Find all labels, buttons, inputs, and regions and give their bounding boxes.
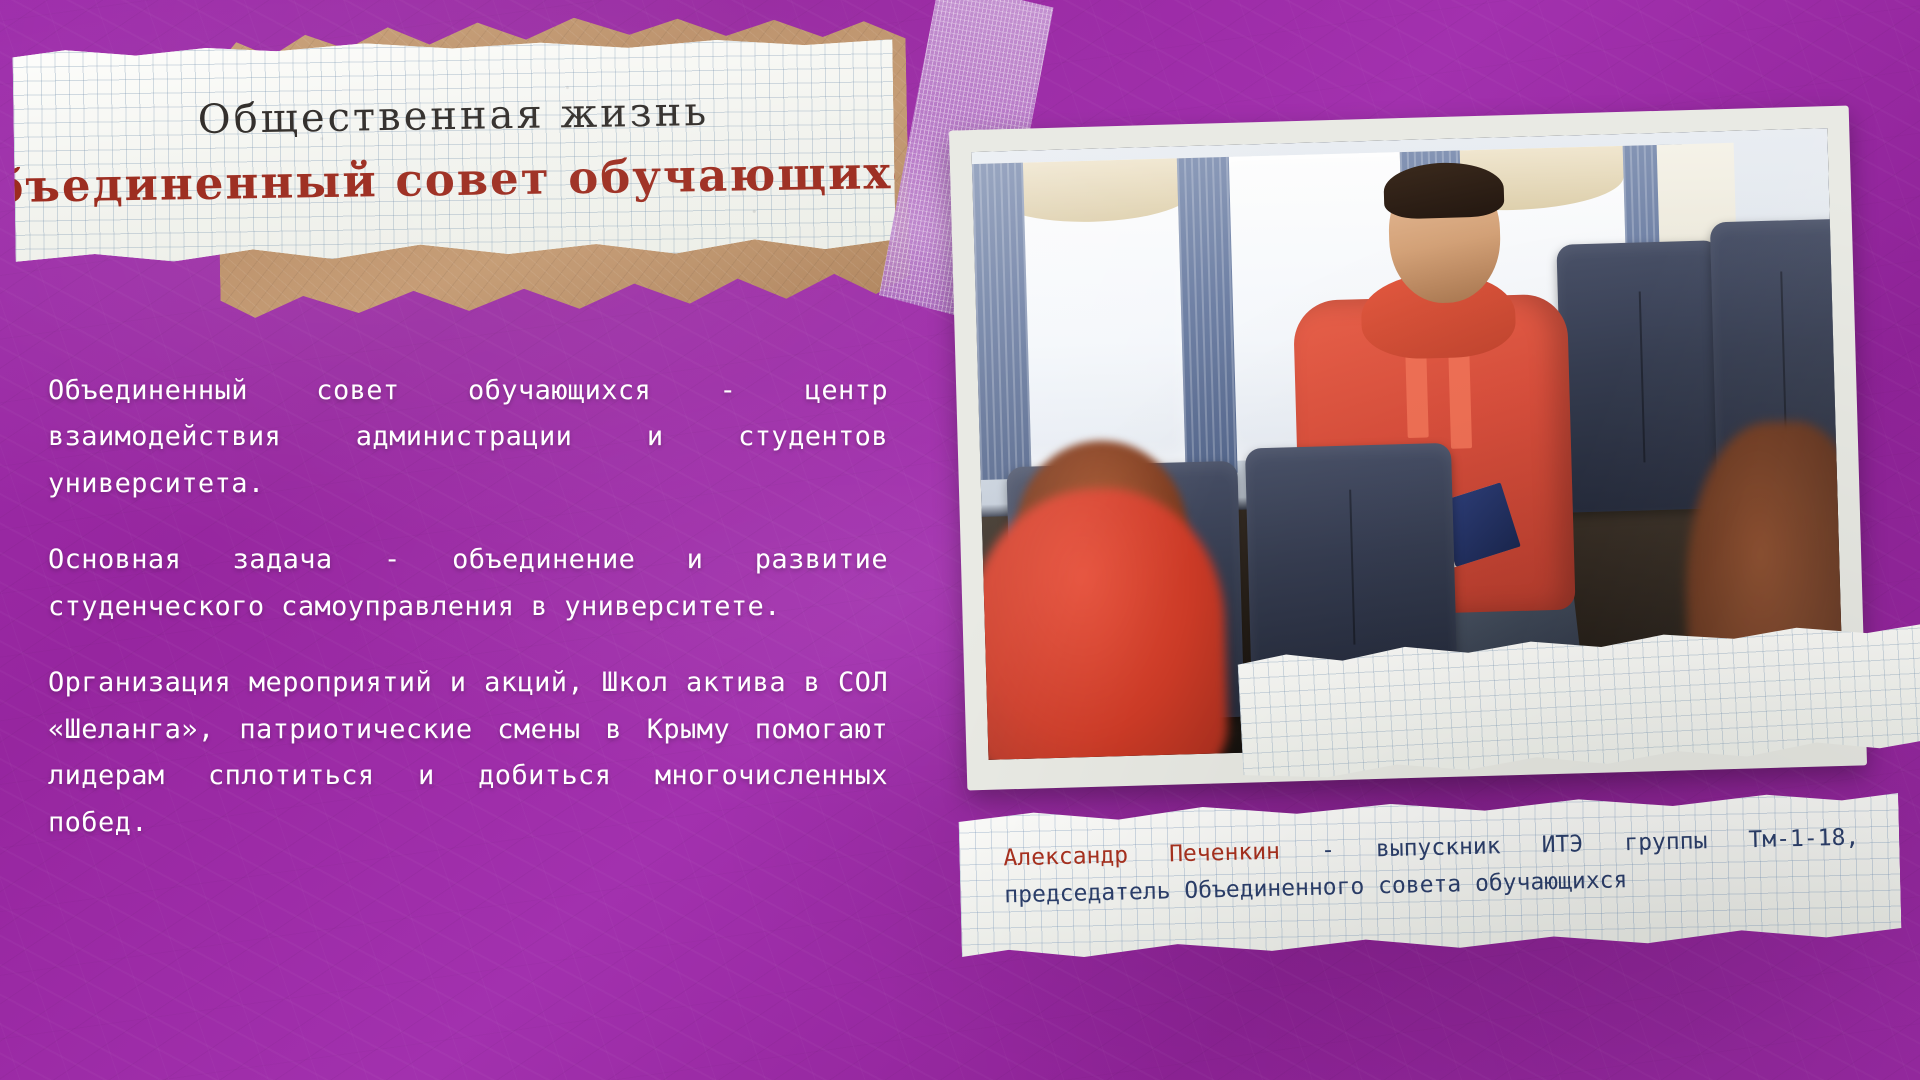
body-paragraph-1: Объединенный совет обучающихся - центр в… bbox=[48, 368, 888, 507]
photo-curtain bbox=[1177, 157, 1237, 474]
seat-seam bbox=[1349, 489, 1355, 645]
photo-caption-card: Александр Печенкин - выпускник ИТЭ групп… bbox=[958, 789, 1901, 962]
photo-auditorium-seat bbox=[1556, 241, 1726, 513]
photo-caption-text: Александр Печенкин - выпускник ИТЭ групп… bbox=[1003, 820, 1861, 915]
body-paragraph-2: Основная задача - объединение и развитие… bbox=[48, 537, 888, 630]
header-text-group: Общественная жизнь Объединенный совет об… bbox=[12, 35, 895, 264]
seat-seam bbox=[1639, 291, 1646, 462]
photo-curtain bbox=[972, 163, 1032, 480]
caption-person-name: Александр Печенкин bbox=[1003, 839, 1280, 872]
page-title: Объединенный совет обучающихся bbox=[0, 145, 957, 214]
body-paragraph-3: Организация мероприятий и акций, Школ ак… bbox=[48, 660, 888, 846]
slide-canvas: Общественная жизнь Объединенный совет об… bbox=[0, 0, 1920, 1080]
body-copy: Объединенный совет обучающихся - центр в… bbox=[48, 368, 888, 846]
header-card: Общественная жизнь Объединенный совет об… bbox=[12, 35, 895, 264]
page-eyebrow: Общественная жизнь bbox=[197, 89, 709, 143]
